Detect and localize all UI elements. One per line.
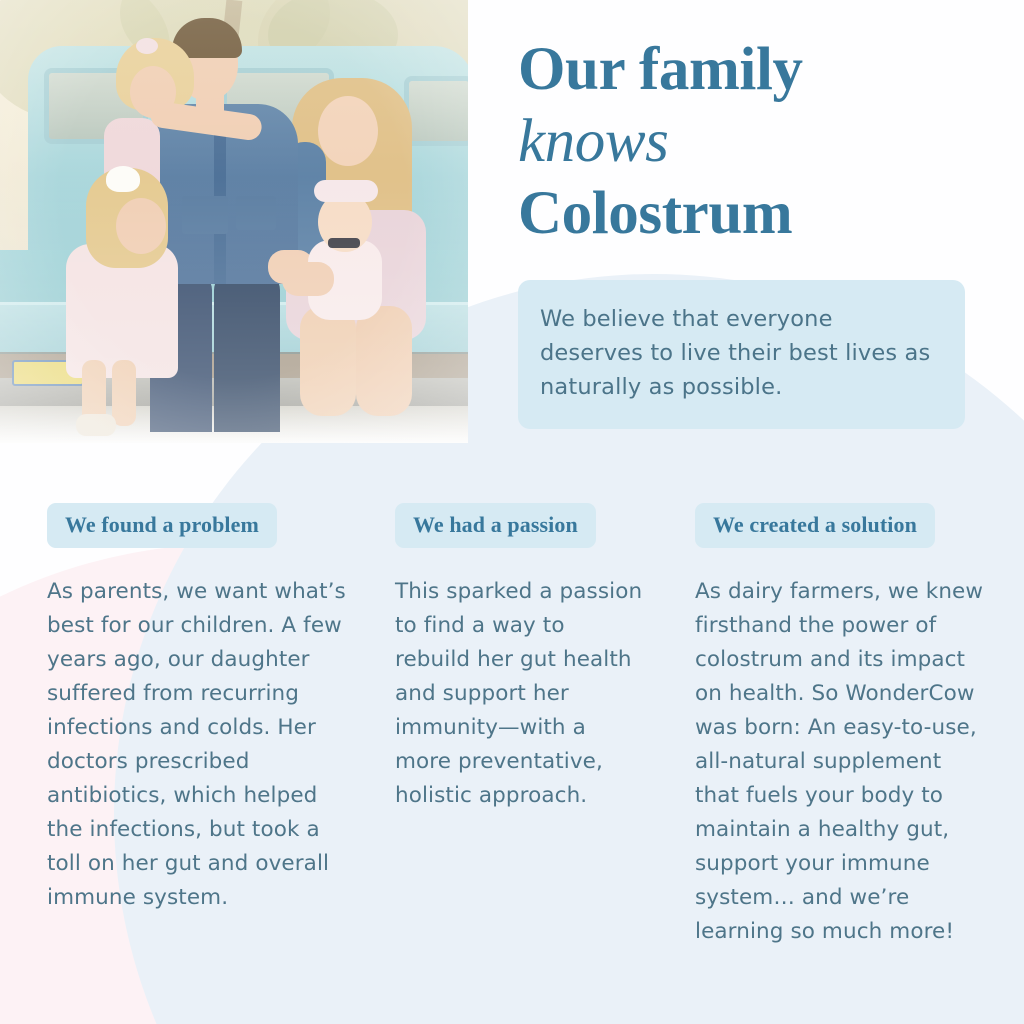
badge-we-created-a-solution: We created a solution <box>695 503 935 548</box>
story-column-passion: We had a passion This sparked a passion … <box>395 503 645 813</box>
photo-vignette <box>0 0 468 443</box>
badge-we-found-a-problem: We found a problem <box>47 503 277 548</box>
mission-quote-text: We believe that everyone deserves to liv… <box>540 302 941 405</box>
brand-story-page: Our family knows Colostrum We believe th… <box>0 0 1024 1024</box>
mission-quote-box: We believe that everyone deserves to liv… <box>518 280 965 429</box>
story-body-solution: As dairy farmers, we knew firsthand the … <box>695 575 990 949</box>
headline-line-3: Colostrum <box>518 178 988 250</box>
headline-line-2-italic: knows <box>518 106 988 178</box>
page-title: Our family knows Colostrum <box>518 34 988 250</box>
headline-line-1: Our family <box>518 34 988 106</box>
story-column-solution: We created a solution As dairy farmers, … <box>695 503 990 949</box>
story-body-problem: As parents, we want what’s best for our … <box>47 575 357 915</box>
badge-we-had-a-passion: We had a passion <box>395 503 596 548</box>
family-photo-illustration <box>0 0 468 443</box>
story-body-passion: This sparked a passion to find a way to … <box>395 575 645 813</box>
story-column-problem: We found a problem As parents, we want w… <box>47 503 357 915</box>
family-photo <box>0 0 468 443</box>
